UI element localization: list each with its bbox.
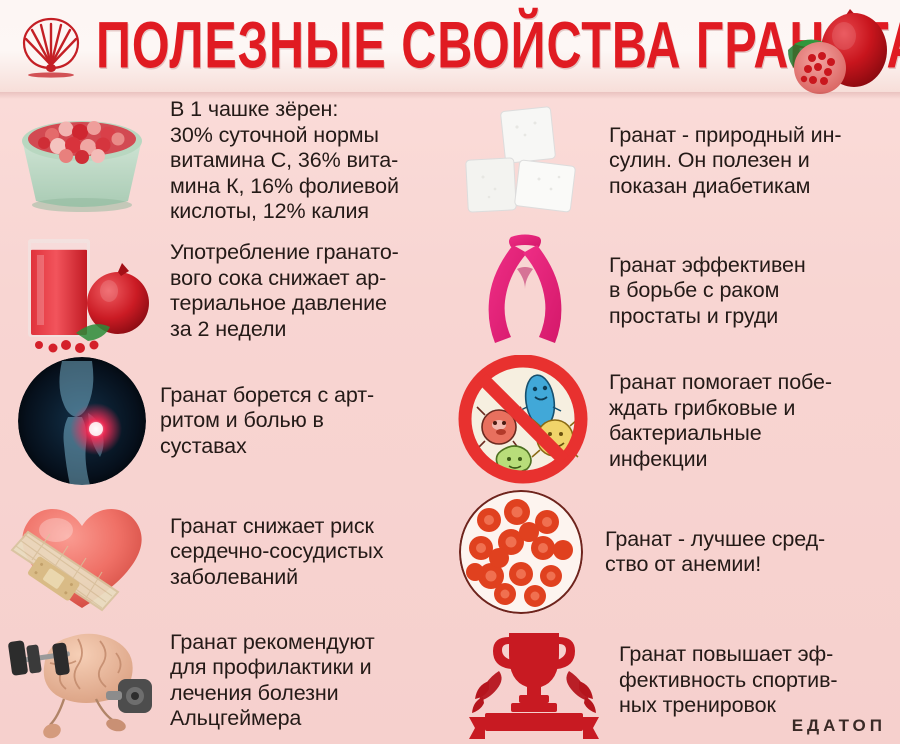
- brain-lifting-dumbbells-image: [6, 619, 158, 743]
- pomegranate-icon: [780, 0, 898, 96]
- fact-blood-pressure: Употребление гранато- вого сока снижает …: [0, 227, 455, 355]
- knee-joint-xray-image: [18, 357, 146, 485]
- fact-diabetes-text: Гранат - природный ин- сулин. Он полезен…: [609, 123, 841, 200]
- pomegranate-juice-glass-image: [6, 229, 158, 353]
- watermark: ЕДАТОП: [792, 716, 886, 736]
- fact-arthritis-text: Гранат борется с арт- ритом и болью в су…: [160, 383, 374, 460]
- fact-cardiovascular: Гранат снижает риск сердечно-сосудистых …: [0, 487, 455, 617]
- trophy-with-laurel-icon: [459, 619, 609, 743]
- no-bacteria-prohibition-icon: [455, 355, 595, 487]
- fact-alzheimer-text: Гранат рекомендуют для профилактики и ле…: [170, 630, 375, 732]
- bowl-of-pomegranate-seeds-image: [6, 101, 158, 221]
- fact-cardiovascular-text: Гранат снижает риск сердечно-сосудистых …: [170, 514, 383, 591]
- fact-blood-pressure-text: Употребление гранато- вого сока снижает …: [170, 240, 399, 342]
- fact-nutrition-text: В 1 чашке зёрен: 30% суточной нормы вита…: [170, 97, 399, 225]
- fact-alzheimer: Гранат рекомендуют для профилактики и ле…: [0, 617, 455, 744]
- fact-sport-text: Гранат повышает эф- фективность спортив-…: [619, 642, 837, 719]
- fact-anemia: Гранат - лучшее сред- ство от анемии!: [455, 487, 900, 617]
- poster-header: ПОЛЕЗНЫЕ СВОЙСТВА ГРАНАТА: [0, 0, 900, 92]
- fact-diabetes: Гранат - природный ин- сулин. Он полезен…: [455, 95, 900, 227]
- sugar-cubes-image: [455, 101, 595, 221]
- facts-grid: В 1 чашке зёрен: 30% суточной нормы вита…: [0, 95, 900, 744]
- red-blood-cells-image: [459, 490, 583, 614]
- fact-cancer: Гранат эффективен в борьбе с раком прост…: [455, 227, 900, 355]
- fact-anemia-text: Гранат - лучшее сред- ство от анемии!: [605, 527, 825, 578]
- fact-arthritis: Гранат борется с арт- ритом и болью в су…: [0, 355, 455, 487]
- infographic-poster: ПОЛЕЗНЫЕ СВОЙСТВА ГРАНАТА: [0, 0, 900, 744]
- bandaged-heart-image: [6, 488, 158, 616]
- fact-cancer-text: Гранат эффективен в борьбе с раком прост…: [609, 253, 806, 330]
- fact-infections: Гранат помогает побе- ждать грибковые и …: [455, 355, 900, 487]
- fact-nutrition: В 1 чашке зёрен: 30% суточной нормы вита…: [0, 95, 455, 227]
- fact-infections-text: Гранат помогает побе- ждать грибковые и …: [609, 370, 832, 472]
- pink-awareness-ribbon-icon: [455, 229, 595, 353]
- shell-sunburst-logo-icon: [14, 10, 88, 84]
